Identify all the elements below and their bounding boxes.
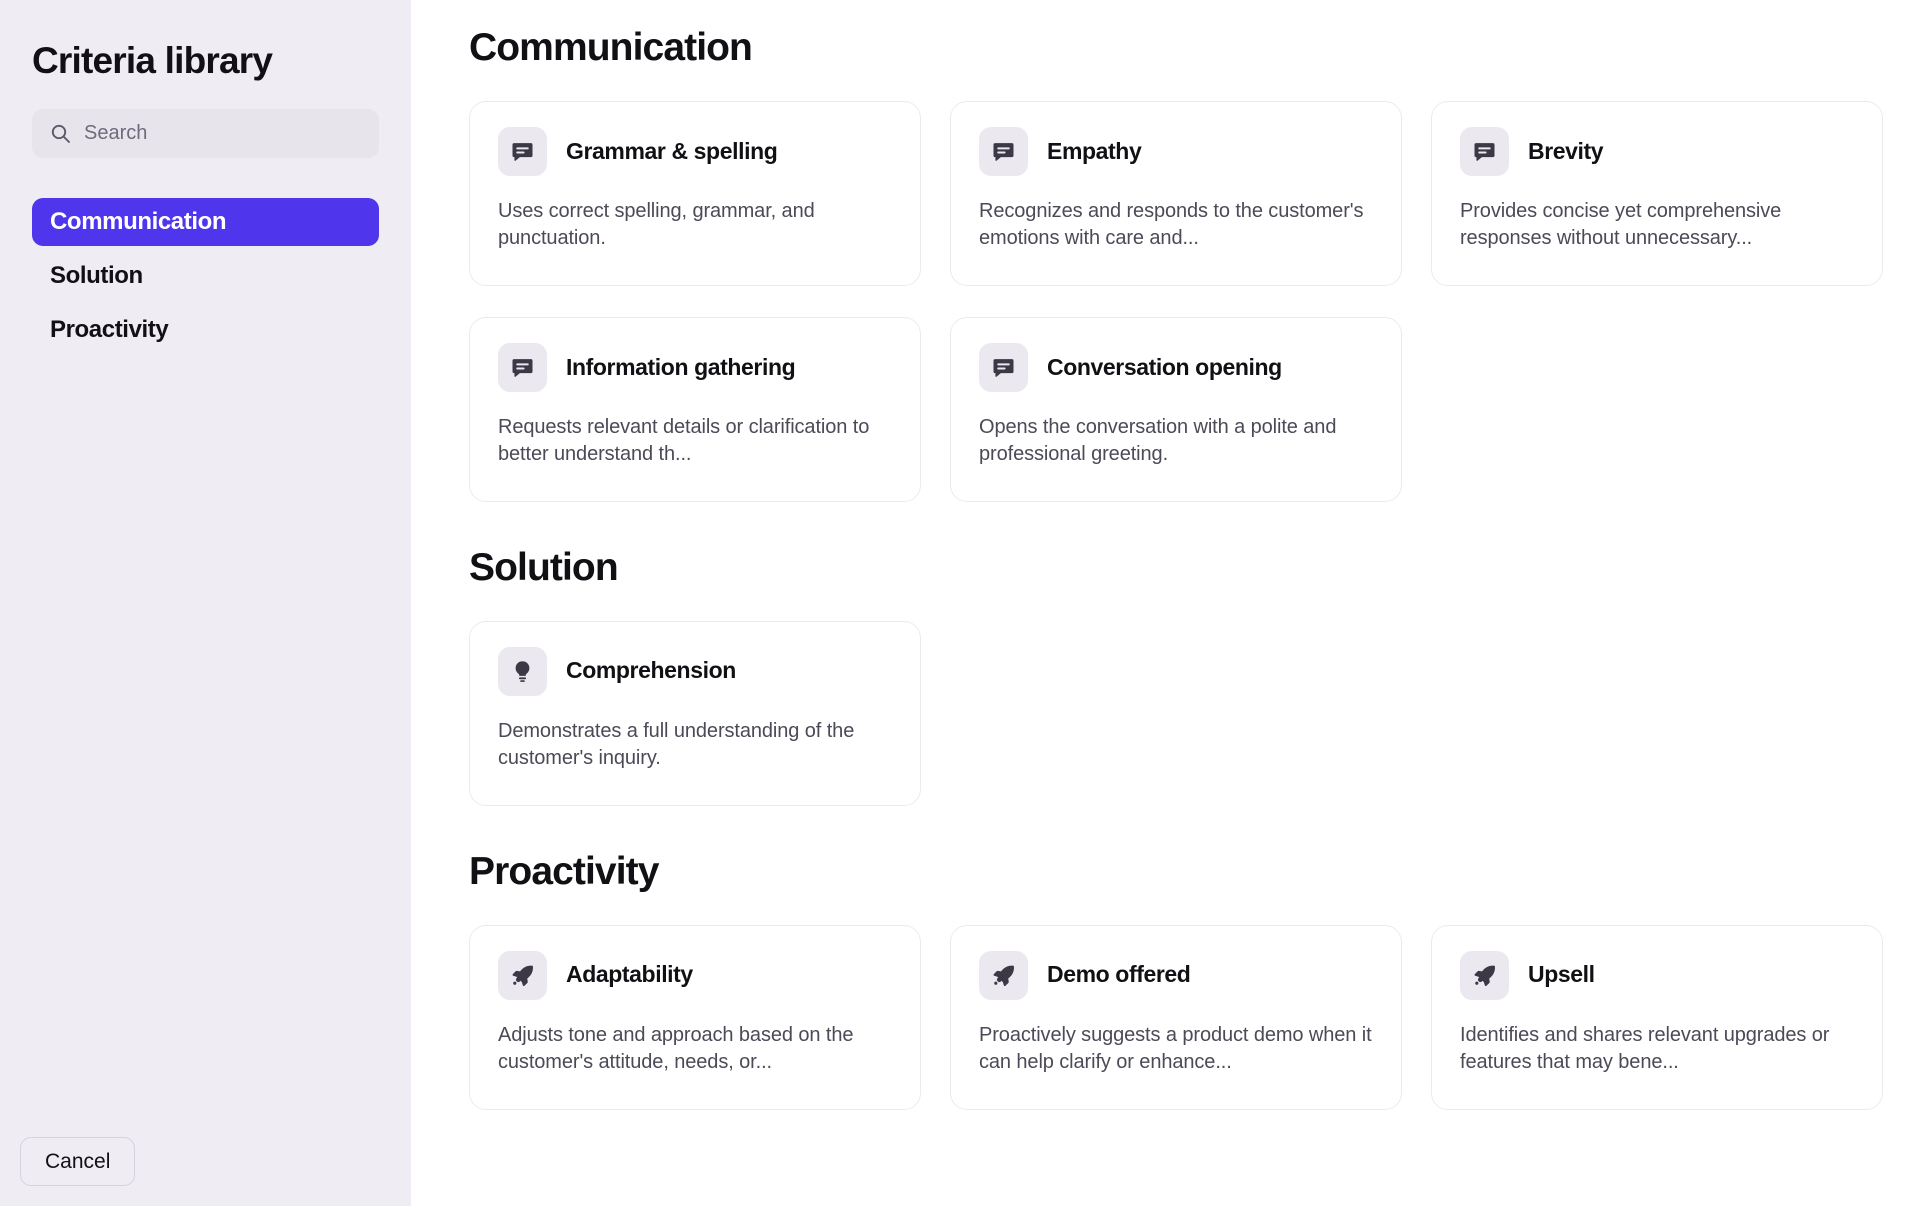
- card-header: Brevity: [1460, 127, 1854, 176]
- card-title: Brevity: [1528, 138, 1603, 166]
- card-header: Adaptability: [498, 951, 892, 1000]
- card-header: Grammar & spelling: [498, 127, 892, 176]
- sidebar-item-solution[interactable]: Solution: [32, 252, 379, 300]
- criteria-card-demo-offered[interactable]: Demo offered Proactively suggests a prod…: [950, 925, 1402, 1110]
- card-grid: Comprehension Demonstrates a full unders…: [469, 621, 1908, 806]
- sidebar-item-communication[interactable]: Communication: [32, 198, 379, 246]
- speech-bubble-icon: [1460, 127, 1509, 176]
- card-description: Adjusts tone and approach based on the c…: [498, 1022, 892, 1077]
- card-description: Uses correct spelling, grammar, and punc…: [498, 198, 892, 253]
- section-title: Proactivity: [469, 850, 1908, 895]
- criteria-card-conversation-opening[interactable]: Conversation opening Opens the conversat…: [950, 317, 1402, 502]
- card-description: Recognizes and responds to the customer'…: [979, 198, 1373, 253]
- card-description: Opens the conversation with a polite and…: [979, 414, 1373, 469]
- sidebar-nav: Communication Solution Proactivity: [32, 198, 379, 354]
- card-header: Information gathering: [498, 343, 892, 392]
- section-title: Communication: [469, 26, 1908, 71]
- card-title: Grammar & spelling: [566, 138, 777, 166]
- sidebar-item-proactivity[interactable]: Proactivity: [32, 306, 379, 354]
- card-title: Empathy: [1047, 138, 1141, 166]
- rocket-icon: [1460, 951, 1509, 1000]
- criteria-card-brevity[interactable]: Brevity Provides concise yet comprehensi…: [1431, 101, 1883, 286]
- sidebar-footer: Cancel: [20, 1137, 135, 1186]
- section-communication: Communication Grammar & spelling: [469, 26, 1908, 502]
- card-description: Provides concise yet comprehensive respo…: [1460, 198, 1854, 253]
- card-description: Identifies and shares relevant upgrades …: [1460, 1022, 1854, 1077]
- criteria-card-information-gathering[interactable]: Information gathering Requests relevant …: [469, 317, 921, 502]
- rocket-icon: [498, 951, 547, 1000]
- card-description: Proactively suggests a product demo when…: [979, 1022, 1373, 1077]
- criteria-card-upsell[interactable]: Upsell Identifies and shares relevant up…: [1431, 925, 1883, 1110]
- search-input[interactable]: [84, 109, 361, 158]
- card-title: Conversation opening: [1047, 354, 1282, 382]
- card-header: Upsell: [1460, 951, 1854, 1000]
- card-title: Upsell: [1528, 961, 1595, 989]
- card-grid: Grammar & spelling Uses correct spelling…: [469, 101, 1908, 502]
- section-title: Solution: [469, 546, 1908, 591]
- sidebar-item-label: Proactivity: [50, 316, 168, 344]
- cancel-button[interactable]: Cancel: [20, 1137, 135, 1186]
- card-header: Conversation opening: [979, 343, 1373, 392]
- card-title: Adaptability: [566, 961, 693, 989]
- sidebar: Criteria library Communication Solution …: [0, 0, 411, 1206]
- card-title: Comprehension: [566, 657, 736, 685]
- sidebar-item-label: Communication: [50, 208, 226, 236]
- search-box[interactable]: [32, 109, 379, 158]
- card-header: Empathy: [979, 127, 1373, 176]
- speech-bubble-icon: [498, 127, 547, 176]
- rocket-icon: [979, 951, 1028, 1000]
- card-description: Requests relevant details or clarificati…: [498, 414, 892, 469]
- sidebar-title: Criteria library: [32, 40, 379, 83]
- sidebar-item-label: Solution: [50, 262, 143, 290]
- card-description: Demonstrates a full understanding of the…: [498, 718, 892, 773]
- criteria-card-comprehension[interactable]: Comprehension Demonstrates a full unders…: [469, 621, 921, 806]
- lightbulb-icon: [498, 647, 547, 696]
- criteria-card-empathy[interactable]: Empathy Recognizes and responds to the c…: [950, 101, 1402, 286]
- card-title: Demo offered: [1047, 961, 1190, 989]
- section-solution: Solution Comprehension Demonstra: [469, 546, 1908, 806]
- speech-bubble-icon: [498, 343, 547, 392]
- card-title: Information gathering: [566, 354, 795, 382]
- section-proactivity: Proactivity Adaptability Adjusts: [469, 850, 1908, 1110]
- criteria-card-adaptability[interactable]: Adaptability Adjusts tone and approach b…: [469, 925, 921, 1110]
- card-grid: Adaptability Adjusts tone and approach b…: [469, 925, 1908, 1110]
- criteria-library-modal: Criteria library Communication Solution …: [0, 0, 1908, 1206]
- card-header: Comprehension: [498, 647, 892, 696]
- speech-bubble-icon: [979, 343, 1028, 392]
- speech-bubble-icon: [979, 127, 1028, 176]
- search-icon: [50, 123, 71, 144]
- criteria-content: Communication Grammar & spelling: [411, 0, 1908, 1206]
- criteria-card-grammar-spelling[interactable]: Grammar & spelling Uses correct spelling…: [469, 101, 921, 286]
- card-header: Demo offered: [979, 951, 1373, 1000]
